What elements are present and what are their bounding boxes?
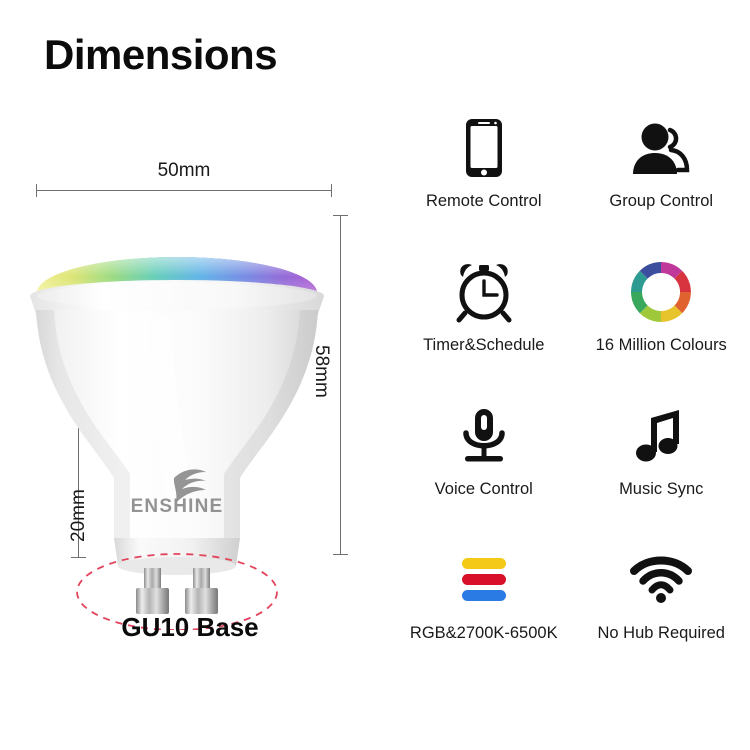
svg-text:ENSHINE: ENSHINE	[131, 496, 224, 517]
alarm-clock-icon	[453, 256, 515, 328]
feature-label: RGB&2700K-6500K	[410, 624, 558, 643]
feature-label: 16 Million Colours	[596, 336, 727, 355]
feature-label: No Hub Required	[598, 624, 726, 643]
feature-voice-control: Voice Control	[395, 400, 573, 544]
product-infographic: Dimensions 50mm 58mm 20mm	[0, 0, 750, 750]
feature-label: Remote Control	[426, 192, 542, 211]
feature-timer-schedule: Timer&Schedule	[395, 256, 573, 400]
feature-remote-control: Remote Control	[395, 112, 573, 256]
feature-label: Group Control	[609, 192, 713, 211]
feature-rgb-colour-temperature: RGB&2700K-6500K	[395, 544, 573, 688]
microphone-icon	[456, 400, 512, 472]
color-bars-icon	[460, 544, 508, 616]
feature-16-million-colours: 16 Million Colours	[573, 256, 750, 400]
width-dimension-line	[36, 190, 332, 191]
product-panel: 50mm 58mm 20mm	[0, 130, 400, 670]
base-caption: GU10 Base	[0, 612, 380, 643]
feature-label: Timer&Schedule	[423, 336, 544, 355]
color-wheel-icon	[629, 256, 693, 328]
feature-music-sync: Music Sync	[573, 400, 750, 544]
wifi-icon	[630, 544, 692, 616]
feature-no-hub-required: No Hub Required	[573, 544, 750, 688]
feature-grid: Remote Control Group Control	[395, 112, 750, 688]
gu10-bulb-illustration: ENSHINE	[22, 210, 342, 630]
feature-label: Music Sync	[619, 480, 703, 499]
width-dimension-label: 50mm	[36, 160, 332, 182]
music-note-icon	[633, 400, 689, 472]
smartphone-icon	[464, 112, 504, 184]
feature-label: Voice Control	[435, 480, 533, 499]
group-people-icon	[630, 112, 692, 184]
page-title: Dimensions	[44, 34, 277, 76]
feature-group-control: Group Control	[573, 112, 750, 256]
